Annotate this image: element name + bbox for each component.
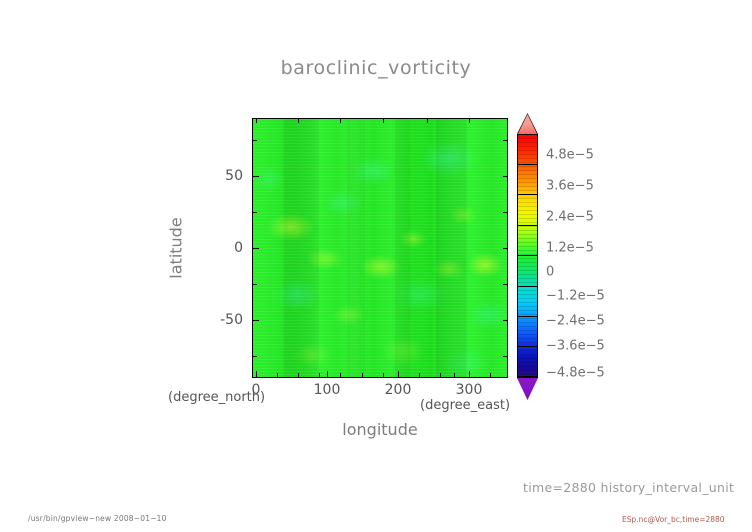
x-tick (419, 373, 420, 378)
colorbar (517, 134, 538, 378)
field-scanline-layer (253, 119, 507, 377)
x-tick (469, 371, 470, 378)
x-tick (256, 371, 257, 378)
x-tick (327, 371, 328, 378)
plot-frame (252, 118, 508, 378)
x-tick (319, 373, 320, 378)
y-tick-right (503, 320, 508, 321)
x-tick (277, 373, 278, 378)
x-tick (340, 373, 341, 378)
y-tick-label: 0 (203, 240, 243, 256)
y-tick (252, 140, 257, 141)
x-tick (490, 373, 491, 378)
y-tick-right (503, 140, 508, 141)
colorbar-tick-label: 1.2e−5 (546, 241, 594, 256)
colorbar-tick-label: 4.8e−5 (546, 148, 594, 163)
x-tick (398, 371, 399, 378)
colorbar-level-lines (517, 134, 538, 378)
x-tick-top (383, 118, 384, 123)
footer-text: /usr/bin/gpview−new 2008−01−10 (28, 514, 167, 523)
y-tick-right (503, 356, 508, 357)
y-axis-unit: (degree_north) (168, 390, 265, 405)
x-tick (298, 373, 299, 378)
x-tick (362, 373, 363, 378)
x-tick-top (469, 118, 470, 123)
colorbar-tick-label: −3.6e−5 (546, 339, 605, 354)
colorbar-tick-label: 3.6e−5 (546, 179, 594, 194)
colorbar-tick-label: 2.4e−5 (546, 210, 594, 225)
y-tick (252, 248, 259, 249)
plot-area (252, 118, 508, 378)
y-tick (252, 284, 257, 285)
status-text: time=2880 history_interval_unit (523, 480, 734, 495)
x-tick (383, 373, 384, 378)
y-tick-label: -50 (203, 312, 243, 328)
y-tick-right (503, 176, 508, 177)
x-axis-unit: (degree_east) (420, 398, 510, 413)
x-tick-label: 200 (385, 382, 412, 398)
colorbar-tick-label: 0 (546, 265, 554, 280)
figure-canvas: baroclinic_vorticity (0, 0, 752, 532)
heatmap-field (253, 119, 507, 377)
x-tick-label: 300 (456, 382, 483, 398)
colorbar-extend-max-arrow (517, 113, 538, 134)
colorbar-tick-label: −4.8e−5 (546, 366, 605, 381)
x-tick (454, 373, 455, 378)
colorbar-tick-label: −1.2e−5 (546, 289, 605, 304)
colorbar-tick-label: −2.4e−5 (546, 314, 605, 329)
colorbar-extend-min-arrow (517, 378, 538, 400)
x-axis-label: longitude (252, 420, 508, 439)
chart-title: baroclinic_vorticity (0, 57, 752, 79)
y-tick (252, 356, 257, 357)
source-caption: ESp.nc@Vor_bc,time=2880 (622, 515, 725, 524)
y-tick (252, 176, 259, 177)
y-tick-right (503, 248, 508, 249)
x-tick-top (340, 118, 341, 123)
x-tick-top (427, 118, 428, 123)
y-axis-label: latitude (167, 217, 186, 278)
y-tick (252, 212, 257, 213)
y-tick-label: 50 (203, 168, 243, 184)
y-tick-right (503, 284, 508, 285)
y-tick-right (503, 212, 508, 213)
x-tick-top (298, 118, 299, 123)
x-tick-label: 100 (314, 382, 341, 398)
y-tick (252, 320, 259, 321)
x-tick (440, 373, 441, 378)
x-tick-top (256, 118, 257, 123)
